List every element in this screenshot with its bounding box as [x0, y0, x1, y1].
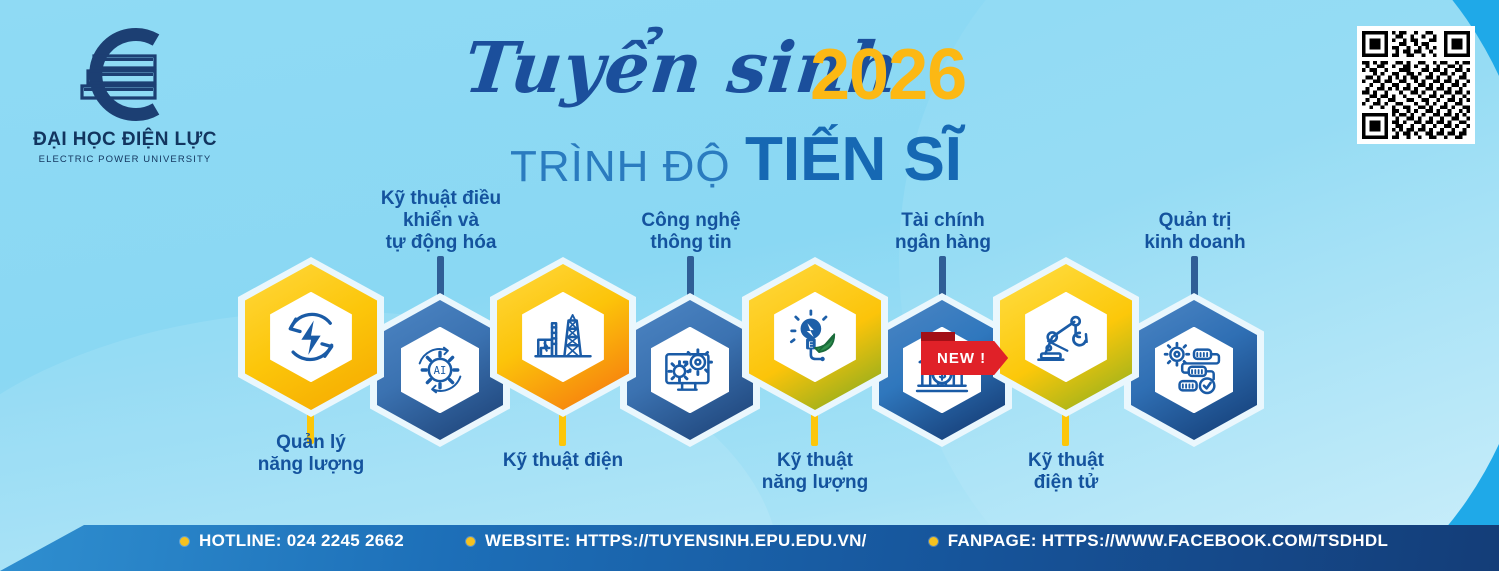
- admissions-banner: ĐẠI HỌC ĐIỆN LỰC ELECTRIC POWER UNIVERSI…: [0, 0, 1499, 571]
- dot-icon: [466, 537, 475, 546]
- program-label: Kỹ thuật điện tử: [974, 450, 1158, 494]
- footer-fanpage-text: FANPAGE: HTTPS://WWW.FACEBOOK.COM/TSDHDL: [948, 531, 1388, 551]
- program-item-5[interactable]: E Kỹ thuật năng lượng: [749, 264, 881, 410]
- workflow-check-icon: [1163, 335, 1226, 405]
- energy-cycle-bolt-icon: [278, 301, 344, 374]
- program-label: Tài chính ngân hàng: [855, 210, 1031, 254]
- program-item-2[interactable]: AI Kỹ thuật điều khiển và tự động hóa: [377, 300, 503, 440]
- program-label: Kỹ thuật điều khiển và tự động hóa: [351, 188, 531, 254]
- contact-row: HOTLINE: 024 2245 2662 WEBSITE: HTTPS://…: [0, 531, 1499, 551]
- dot-icon: [929, 537, 938, 546]
- footer-website-text: WEBSITE: HTTPS://TUYENSINH.EPU.EDU.VN/: [485, 531, 867, 551]
- program-item-8[interactable]: Quản trị kinh doanh: [1131, 300, 1257, 440]
- program-hexagon[interactable]: [1000, 264, 1132, 410]
- program-hexagon[interactable]: [497, 264, 629, 410]
- new-badge-label: NEW !: [921, 341, 1008, 375]
- program-hexagon[interactable]: [627, 300, 753, 440]
- svg-text:E: E: [808, 339, 813, 349]
- svg-text:AI: AI: [434, 365, 447, 377]
- green-energy-bulb-icon: E: [782, 301, 848, 374]
- program-hexagon[interactable]: [245, 264, 377, 410]
- program-label: Kỹ thuật điện: [467, 450, 659, 472]
- program-label: Quản trị kinh doanh: [1107, 210, 1283, 254]
- program-hexagon-row: Quản lý năng lượng: [0, 0, 1499, 520]
- footer-item-website[interactable]: WEBSITE: HTTPS://TUYENSINH.EPU.EDU.VN/: [466, 531, 867, 551]
- footer-item-hotline[interactable]: HOTLINE: 024 2245 2662: [180, 531, 404, 551]
- power-plant-icon: [530, 301, 596, 374]
- ai-gear-icon: AI: [409, 335, 472, 405]
- dot-icon: [180, 537, 189, 546]
- robot-arm-icon: [1033, 301, 1099, 374]
- new-badge-ribbon: NEW !: [921, 341, 1008, 375]
- program-hexagon[interactable]: AI: [377, 300, 503, 440]
- monitor-gears-icon: [659, 335, 722, 405]
- program-item-4[interactable]: Công nghệ thông tin: [627, 300, 753, 440]
- program-label: Kỹ thuật năng lượng: [723, 450, 907, 494]
- footer-hotline-text: HOTLINE: 024 2245 2662: [199, 531, 404, 551]
- program-hexagon[interactable]: E: [749, 264, 881, 410]
- program-label: Công nghệ thông tin: [601, 210, 781, 254]
- program-item-1[interactable]: Quản lý năng lượng: [245, 264, 377, 410]
- program-label: Quản lý năng lượng: [223, 432, 399, 476]
- program-item-7[interactable]: Kỹ thuật điện tử: [1000, 264, 1132, 410]
- program-hexagon[interactable]: [1131, 300, 1257, 440]
- footer-item-fanpage[interactable]: FANPAGE: HTTPS://WWW.FACEBOOK.COM/TSDHDL: [929, 531, 1388, 551]
- program-item-3[interactable]: Kỹ thuật điện: [497, 264, 629, 410]
